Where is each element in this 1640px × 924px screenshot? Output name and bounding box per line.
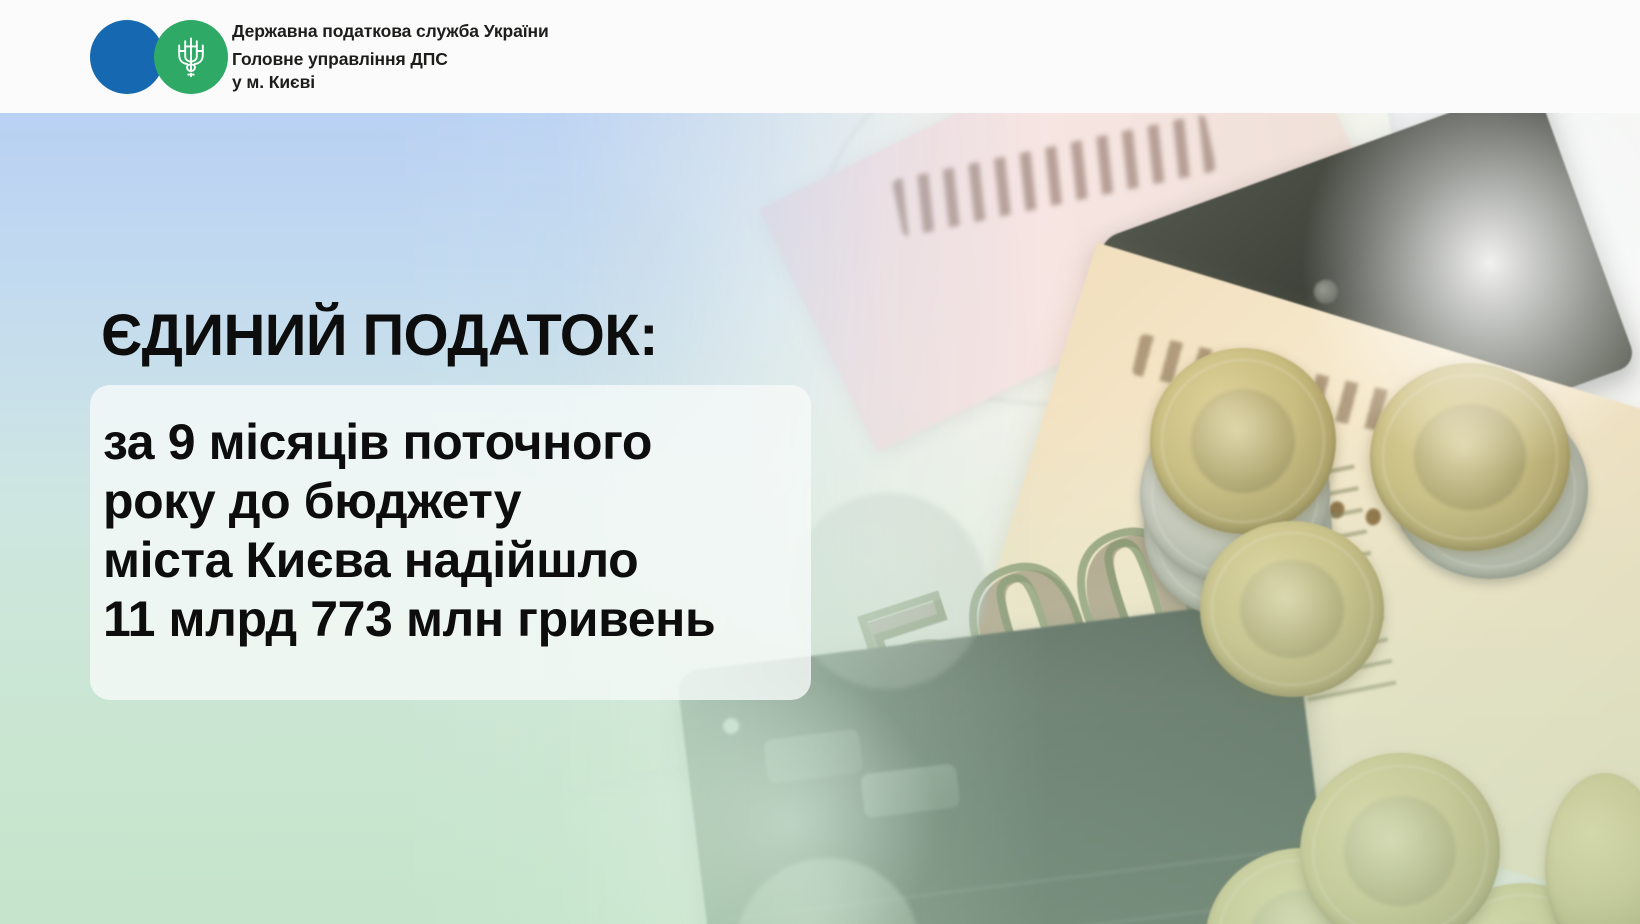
organization-logo [90,20,212,94]
message-card: за 9 місяців поточного року до бюджету м… [90,385,811,700]
page-title: ЄДИНИЙ ПОДАТОК: [101,307,658,365]
message-line: міста Києва надійшло [103,531,811,590]
organization-name-block: Державна податкова служба України Головн… [232,19,549,94]
message-line: 11 млрд 773 млн гривень [103,590,811,649]
poster-root: Державна податкова служба України Головн… [0,0,1640,924]
poster-content: ЄДИНИЙ ПОДАТОК: за 9 місяців поточного р… [0,113,1640,924]
org-title-line-2: Головне управління ДПС [232,48,549,71]
org-title-line-3: у м. Києві [232,71,549,94]
header-bar: Державна податкова служба України Головн… [0,0,1640,113]
org-title-line-1: Державна податкова служба України [232,19,549,43]
message-line: за 9 місяців поточного [103,413,811,472]
logo-blue-circle-icon [90,20,164,94]
message-line: року до бюджету [103,472,811,531]
ukraine-trident-icon [154,20,228,94]
